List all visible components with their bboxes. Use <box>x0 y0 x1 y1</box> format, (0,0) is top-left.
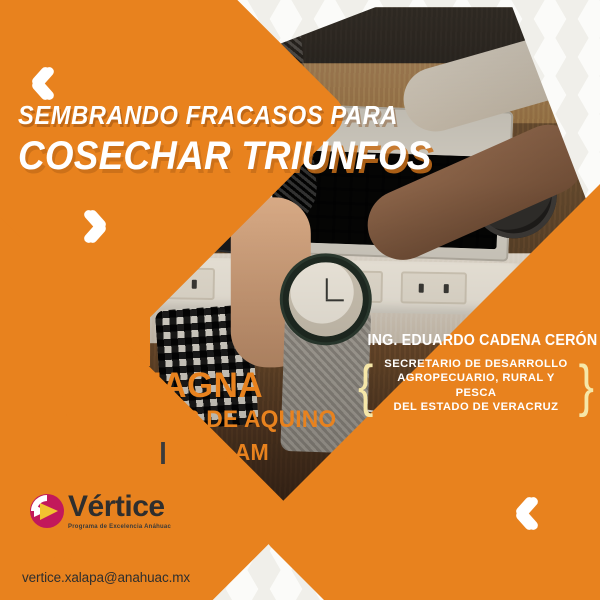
headline: SEMBRANDO FRACASOS PARA COSECHAR TRIUNFO… <box>18 104 518 176</box>
brace-right-icon: } <box>579 363 594 409</box>
event-date: 2 DE ABRIL <box>30 441 153 464</box>
logo-wordmark: Vértice <box>68 492 173 522</box>
datetime-separator <box>161 442 165 464</box>
vertice-logo-mark-icon <box>28 492 66 530</box>
speaker-block: ING. EDUARDO CADENA CERÓN { SECRETARIO D… <box>358 332 594 414</box>
headline-line-1: SEMBRANDO FRACASOS PARA <box>18 104 483 130</box>
vertice-logo: Vértice Programa de Excelencia Anáhuac <box>28 492 173 530</box>
poster-canvas: SEMBRANDO FRACASOS PARA COSECHAR TRIUNFO… <box>0 0 600 600</box>
contact-block: + INFO vertice.xalapa@anahuac.mx <box>22 548 190 585</box>
speaker-role: SECRETARIO DE DESARROLLO AGROPECUARIO, R… <box>378 357 573 414</box>
speaker-role-line-1: SECRETARIO DE DESARROLLO <box>378 357 573 371</box>
venue-block: AULA MAGNA SANTO TOMÁS DE AQUINO 2 DE AB… <box>30 368 352 464</box>
contact-email[interactable]: vertice.xalapa@anahuac.mx <box>22 570 190 585</box>
brace-left-icon: { <box>358 363 373 409</box>
speaker-role-line-3: DEL ESTADO DE VERACRUZ <box>378 400 573 414</box>
info-label: + INFO <box>22 548 190 565</box>
speaker-role-line-2: AGROPECUARIO, RURAL Y PESCA <box>378 371 573 400</box>
event-time: 11:30 AM <box>173 441 268 464</box>
speaker-name: ING. EDUARDO CADENA CERÓN <box>367 332 584 350</box>
venue-building: SANTO TOMÁS DE AQUINO <box>30 408 336 432</box>
headline-line-2: COSECHAR TRIUNFOS <box>18 136 478 176</box>
venue-hall: AULA MAGNA <box>30 368 340 403</box>
event-datetime: 2 DE ABRIL 11:30 AM <box>30 441 336 464</box>
logo-tagline: Programa de Excelencia Anáhuac <box>68 523 171 530</box>
